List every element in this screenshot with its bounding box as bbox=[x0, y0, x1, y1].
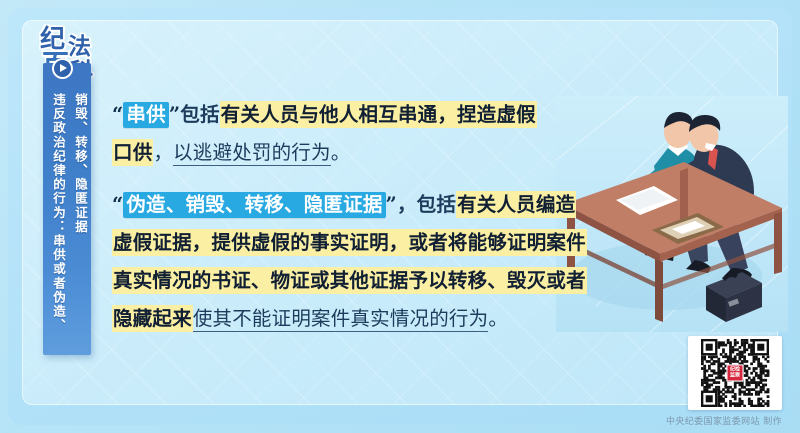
p2-emphasis-1: 有关人员编造 bbox=[456, 191, 576, 218]
p2-emphasis-3: 真实情况的书证、物证或其他证据予以转移、毁灭或者 bbox=[112, 267, 587, 294]
p2-emphasis-4: 隐藏起来 bbox=[112, 305, 193, 332]
open-quote-1: “ bbox=[112, 103, 123, 126]
close-quote-1: ” bbox=[169, 103, 180, 126]
paragraph-2: “伪造、销毁、转移、隐匿证据”，包括有关人员编造 虚假证据，提供虚假的事实证明，… bbox=[112, 186, 592, 338]
logo-char-1: 纪 bbox=[40, 26, 65, 51]
p1-period: 。 bbox=[331, 141, 351, 164]
p1-line-2: 口供，以逃避处罚的行为。 bbox=[112, 134, 592, 172]
p1-underlined: 以逃避处罚的行为 bbox=[173, 141, 331, 166]
qr-code[interactable]: 纪检 监察 bbox=[688, 336, 782, 410]
p1-after-quote: 包括 bbox=[180, 103, 219, 126]
logo-char-2: 法 bbox=[68, 36, 91, 59]
p1-line-1: “串供”包括有关人员与他人相互串通，捏造虚假 bbox=[112, 96, 592, 134]
main-copy: “串供”包括有关人员与他人相互串通，捏造虚假 口供，以逃避处罚的行为。 “伪造、… bbox=[112, 96, 592, 352]
p2-after-quote: ，包括 bbox=[397, 193, 456, 216]
p1-comma: ， bbox=[153, 141, 173, 164]
credit-line: 中央纪委国家监委网站 制作 bbox=[666, 414, 782, 427]
p2-line-3: 真实情况的书证、物证或其他证据予以转移、毁灭或者 bbox=[112, 262, 592, 300]
p2-line-2: 虚假证据，提供虚假的事实证明，或者将能够证明案件 bbox=[112, 224, 592, 262]
play-icon-triangle bbox=[60, 64, 67, 72]
p2-line-4: 隐藏起来使其不能证明案件真实情况的行为。 bbox=[112, 300, 592, 338]
paragraph-1: “串供”包括有关人员与他人相互串通，捏造虚假 口供，以逃避处罚的行为。 bbox=[112, 96, 592, 172]
term-highlight-1: 串供 bbox=[123, 102, 168, 128]
vertical-title-text: 销毁、转移、隐匿证据 违反政治纪律的行为：串供或者伪造、 bbox=[43, 91, 91, 353]
p2-period: 。 bbox=[488, 307, 508, 330]
close-quote-2: ” bbox=[386, 193, 397, 216]
p2-emphasis-2: 虚假证据，提供虚假的事实证明，或者将能够证明案件 bbox=[112, 229, 587, 256]
p1-emphasis-2: 口供 bbox=[112, 139, 153, 166]
p1-emphasis-1: 有关人员与他人相互串通，捏造虚假 bbox=[220, 101, 537, 128]
p2-underlined: 使其不能证明案件真实情况的行为 bbox=[193, 307, 489, 332]
p2-line-1: “伪造、销毁、转移、隐匿证据”，包括有关人员编造 bbox=[112, 186, 592, 224]
infographic-canvas: 纪 法 百 科 销毁、转移、隐匿证据 违反政治纪律的行为：串供或者伪造、 “串供… bbox=[0, 0, 800, 433]
term-highlight-2: 伪造、销毁、转移、隐匿证据 bbox=[123, 192, 385, 218]
vertical-title-banner: 销毁、转移、隐匿证据 违反政治纪律的行为：串供或者伪造、 bbox=[43, 63, 91, 355]
open-quote-2: “ bbox=[112, 193, 123, 216]
qr-code-center-logo: 纪检 监察 bbox=[727, 365, 744, 382]
